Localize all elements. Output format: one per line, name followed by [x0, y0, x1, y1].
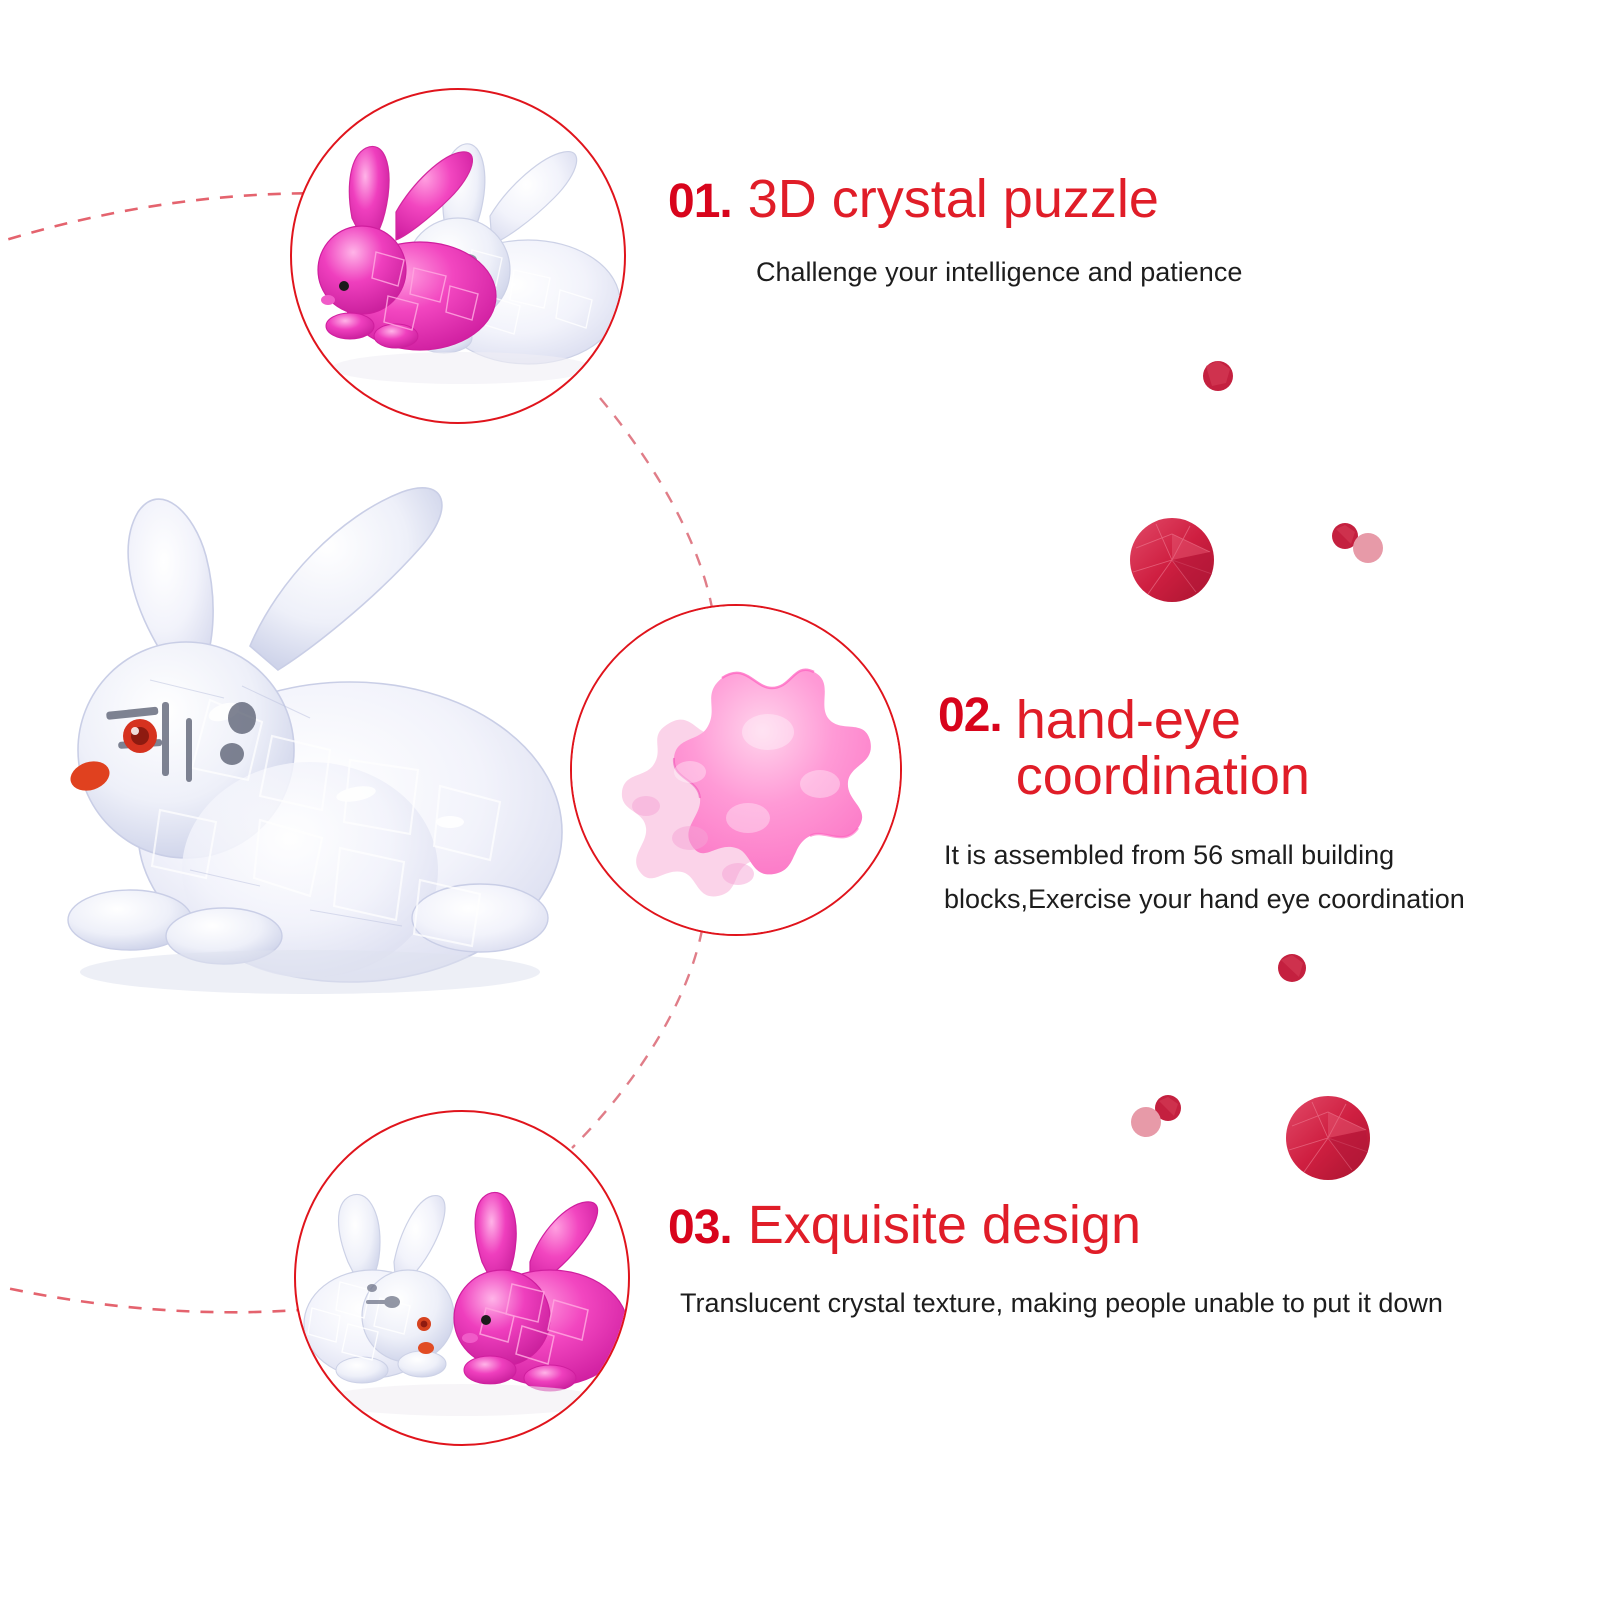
feature-title-03: Exquisite design — [748, 1198, 1141, 1252]
feature-body-02: It is assembled from 56 small building b… — [944, 834, 1504, 921]
feature-block-01: 01.3D crystal puzzle Challenge your inte… — [668, 172, 1242, 293]
feature-block-02: 02.hand-eye coordination It is assembled… — [938, 692, 1504, 922]
feature-number-02: 02. — [938, 692, 1002, 740]
large-sphere-2 — [1286, 1096, 1370, 1180]
feature-number-03: 03. — [668, 1204, 732, 1252]
feature-body-03: Translucent crystal texture, making peop… — [680, 1282, 1460, 1326]
small-sphere-6 — [1131, 1107, 1161, 1137]
small-sphere-1 — [1203, 361, 1233, 391]
feature-title-02: hand-eye coordination — [1016, 692, 1310, 804]
feature-heading-03: 03.Exquisite design — [668, 1198, 1460, 1252]
large-sphere-1 — [1130, 518, 1214, 602]
feature-number-01: 01. — [668, 178, 732, 226]
feature-heading-02: 02.hand-eye coordination — [938, 692, 1504, 804]
feature-body-01: Challenge your intelligence and patience — [756, 252, 1242, 293]
feature-heading-01: 01.3D crystal puzzle — [668, 172, 1242, 226]
feature-block-03: 03.Exquisite design Translucent crystal … — [668, 1198, 1460, 1326]
small-sphere-4 — [1278, 954, 1306, 982]
small-sphere-3 — [1353, 533, 1383, 563]
infographic-page: 01.3D crystal puzzle Challenge your inte… — [0, 0, 1600, 1600]
feature-title-01: 3D crystal puzzle — [748, 172, 1159, 226]
